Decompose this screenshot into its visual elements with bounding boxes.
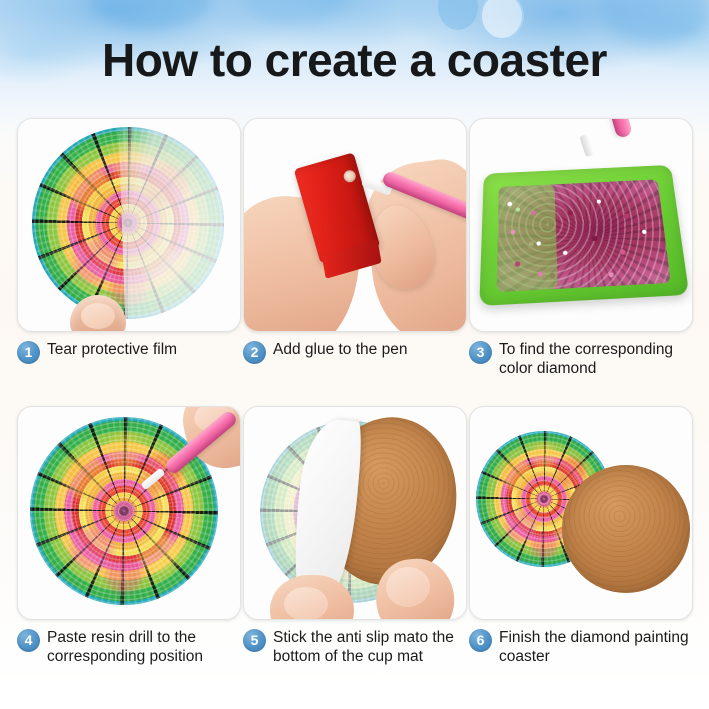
cork-backing-disc [562, 465, 690, 593]
step-card-4: 4 Paste resin drill to the corresponding… [17, 406, 239, 666]
watercolor-bubble [438, 0, 478, 30]
step-image-5 [243, 406, 467, 620]
step-image-2 [243, 118, 467, 332]
step-caption-text-1: Tear protective film [47, 340, 177, 359]
step-badge-2: 2 [243, 341, 266, 364]
fingernail [81, 303, 115, 329]
step-card-1: 1 Tear protective film [17, 118, 239, 364]
protective-film [119, 127, 224, 319]
watercolor-blob [90, 0, 210, 30]
step-image-6 [469, 406, 693, 620]
step-image-4 [17, 406, 241, 620]
mandala-coaster-art [32, 127, 224, 319]
step-image-3 [469, 118, 693, 332]
step-caption-text-6: Finish the diamond painting coaster [499, 628, 689, 666]
infographic-page: How to create a coaster 1 Tear protectiv [0, 0, 709, 709]
step-caption-3: 3 To find the corresponding color diamon… [469, 340, 691, 378]
glue-opening [342, 169, 357, 184]
step-card-5: 5 Stick the anti slip mato the bottom of… [243, 406, 465, 666]
step-caption-4: 4 Paste resin drill to the corresponding… [17, 628, 239, 666]
step-card-2: 2 Add glue to the pen [243, 118, 465, 364]
step-image-1 [17, 118, 241, 332]
step-badge-3: 3 [469, 341, 492, 364]
pen-tip [579, 134, 594, 158]
step-caption-text-2: Add glue to the pen [273, 340, 407, 359]
mandala-center [114, 501, 135, 522]
applicator-pen [597, 118, 633, 139]
step-caption-text-3: To find the corresponding color diamond [499, 340, 689, 378]
mandala-center [537, 492, 552, 507]
step-badge-5: 5 [243, 629, 266, 652]
mandala-center [117, 212, 138, 233]
watercolor-blob [246, 0, 342, 26]
step-caption-2: 2 Add glue to the pen [243, 340, 465, 364]
steps-row-2: 4 Paste resin drill to the corresponding… [0, 406, 709, 694]
steps-grid: 1 Tear protective film [0, 118, 709, 694]
step-card-3: 3 To find the corresponding color diamon… [469, 118, 691, 378]
mandala-flame-overlay [32, 127, 224, 319]
step-caption-text-5: Stick the anti slip mato the bottom of t… [273, 628, 463, 666]
step-badge-1: 1 [17, 341, 40, 364]
step-card-6: 6 Finish the diamond painting coaster [469, 406, 691, 666]
drill-tray [479, 165, 689, 306]
fingernail [284, 587, 328, 620]
step-caption-5: 5 Stick the anti slip mato the bottom of… [243, 628, 465, 666]
step-badge-6: 6 [469, 629, 492, 652]
rhinestone-drills-sparse [497, 184, 558, 292]
step-badge-4: 4 [17, 629, 40, 652]
step-caption-6: 6 Finish the diamond painting coaster [469, 628, 691, 666]
steps-row-1: 1 Tear protective film [0, 118, 709, 406]
step-caption-text-4: Paste resin drill to the corresponding p… [47, 628, 237, 666]
page-title: How to create a coaster [0, 32, 709, 88]
step-caption-1: 1 Tear protective film [17, 340, 239, 364]
